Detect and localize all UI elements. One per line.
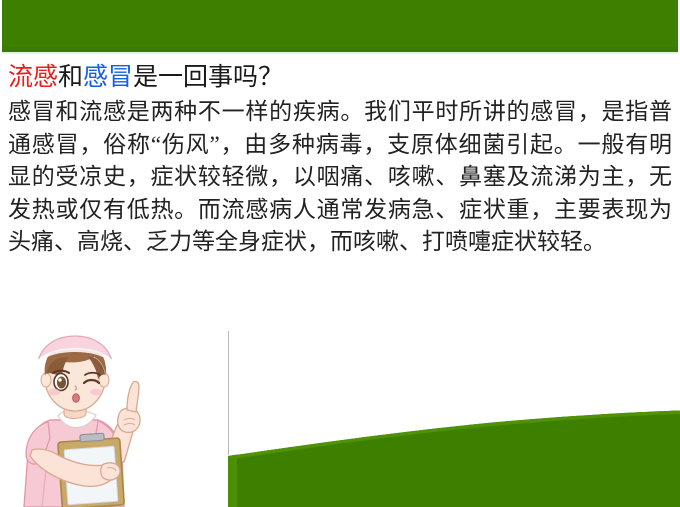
- cartoon-nurse-illustration: [6, 330, 194, 507]
- clipboard-clip: [80, 433, 104, 442]
- top-green-band-edge: [2, 52, 678, 54]
- title-part-liugan: 流感: [8, 64, 58, 91]
- title-part-ganmao: 感冒: [83, 64, 133, 91]
- title-part-he: 和: [58, 64, 83, 91]
- title-part-question: 是一回事吗？: [133, 64, 283, 91]
- vertical-divider-line: [228, 331, 229, 455]
- page-title: 流感和感冒是一回事吗？: [8, 62, 674, 94]
- top-green-band: [2, 0, 678, 53]
- text-block: 流感和感冒是一回事吗？ 感冒和流感是两种不一样的疾病。我们平时所讲的感冒，是指普…: [8, 62, 674, 259]
- body-paragraph: 感冒和流感是两种不一样的疾病。我们平时所讲的感冒，是指普通感冒，俗称“伤风”，由…: [8, 96, 672, 259]
- nurse-head: [39, 336, 111, 411]
- slide-canvas: 流感和感冒是一回事吗？ 感冒和流感是两种不一样的疾病。我们平时所讲的感冒，是指普…: [0, 0, 680, 507]
- nurse-mouth: [73, 394, 80, 402]
